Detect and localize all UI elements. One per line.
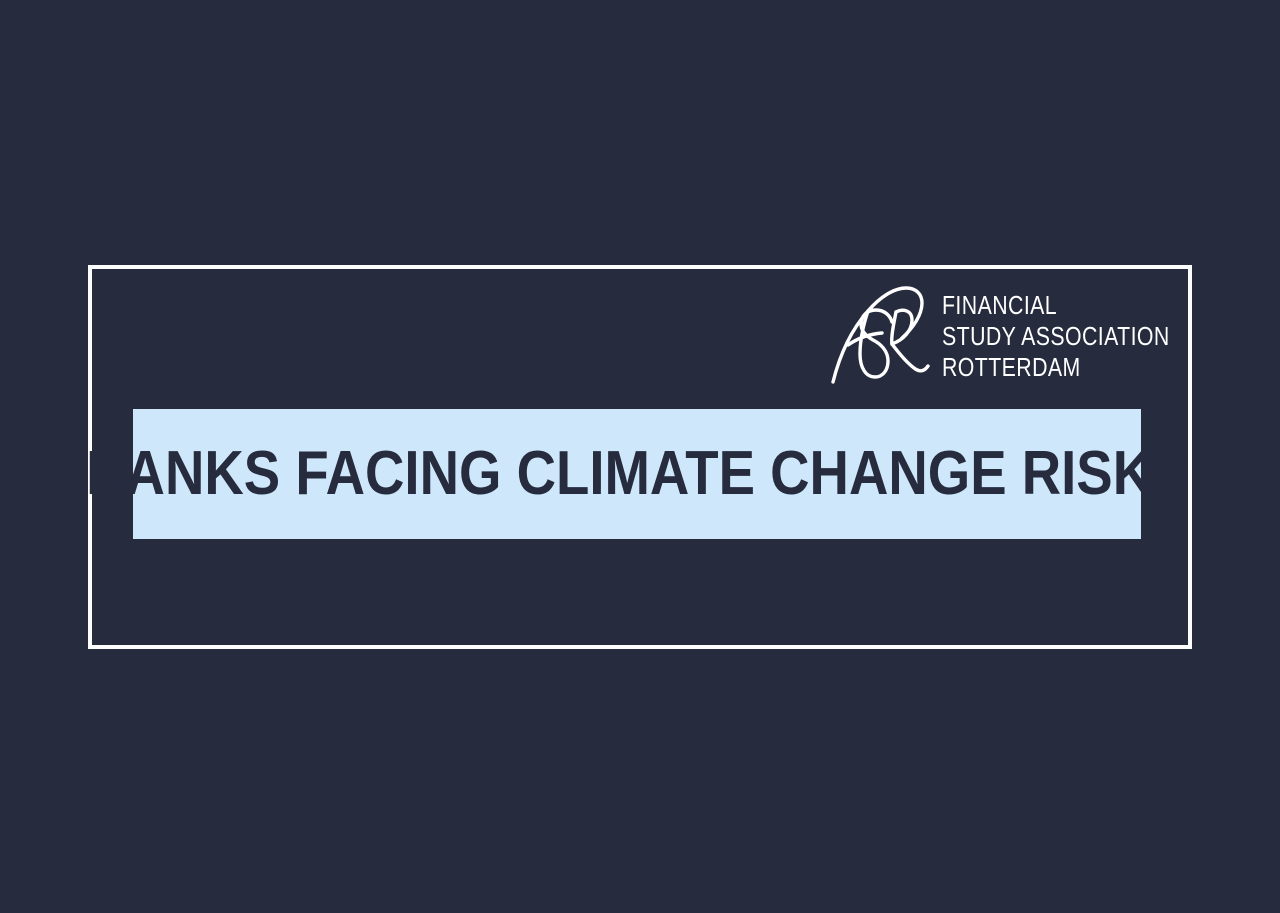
fsr-wordmark: FINANCIAL STUDY ASSOCIATION ROTTERDAM <box>942 290 1220 380</box>
logo-line-rotterdam: ROTTERDAM <box>942 354 1170 380</box>
title-banner: BANKS FACING CLIMATE CHANGE RISKS <box>133 409 1141 539</box>
slide-title: BANKS FACING CLIMATE CHANGE RISKS <box>86 443 1188 505</box>
fsr-monogram-icon <box>830 282 932 387</box>
slide-frame-border: FINANCIAL STUDY ASSOCIATION ROTTERDAM BA… <box>88 265 1192 649</box>
logo-line-study-association: STUDY ASSOCIATION <box>942 323 1170 349</box>
fsr-logo: FINANCIAL STUDY ASSOCIATION ROTTERDAM <box>830 282 1160 387</box>
presentation-slide: FINANCIAL STUDY ASSOCIATION ROTTERDAM BA… <box>0 0 1280 913</box>
logo-line-financial: FINANCIAL <box>942 292 1170 318</box>
